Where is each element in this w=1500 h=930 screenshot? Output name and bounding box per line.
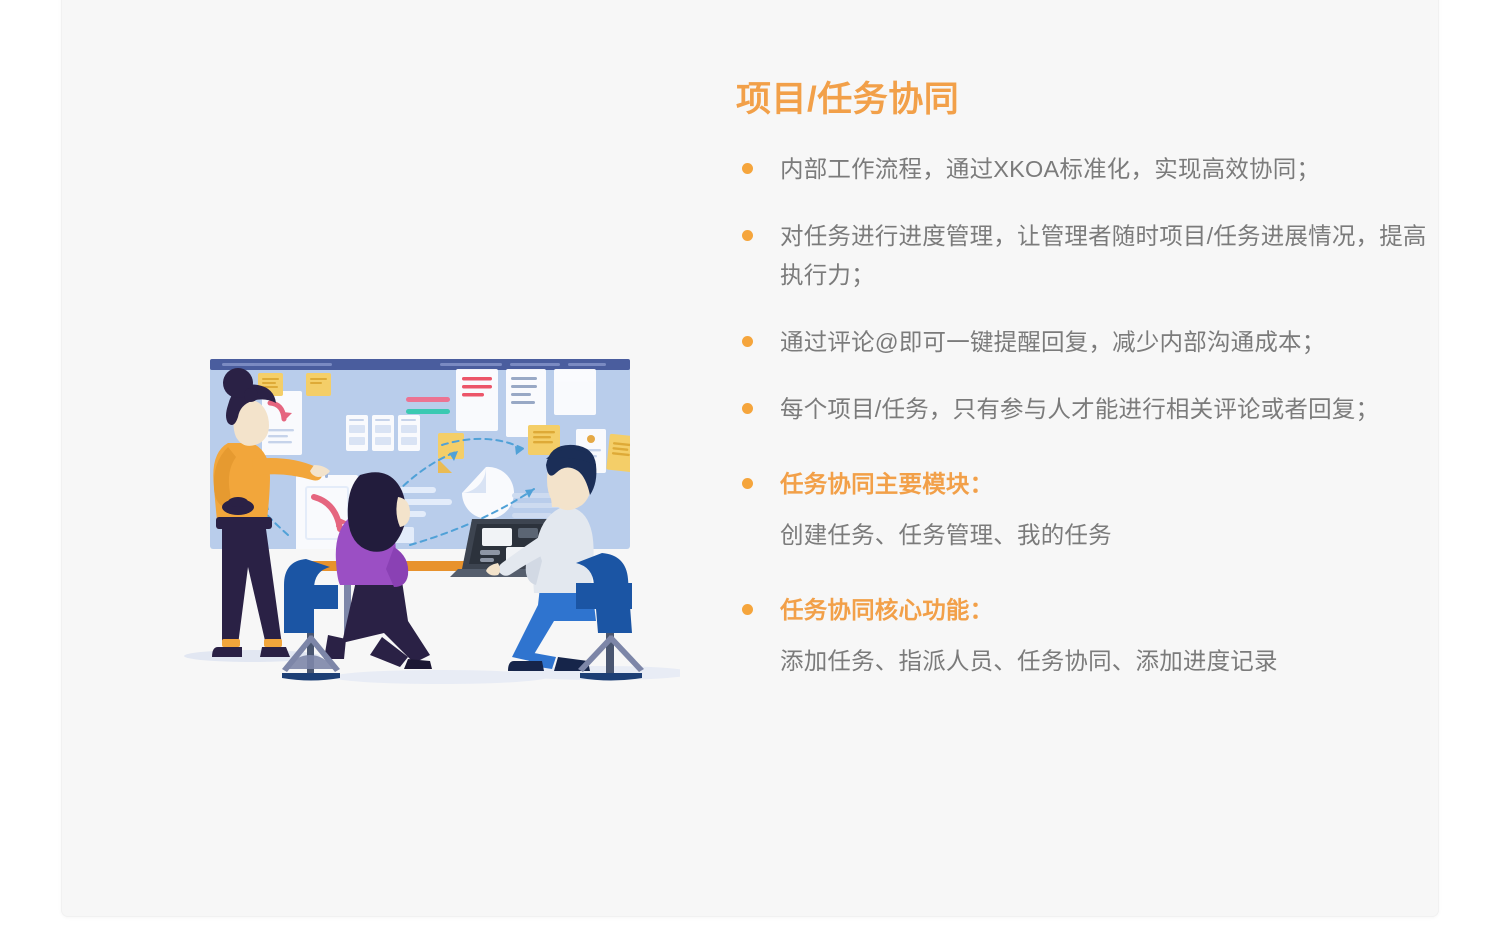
bullet-subtext: 添加任务、指派人员、任务协同、添加进度记录: [780, 642, 1446, 681]
list-item-modules: 任务协同主要模块： 创建任务、任务管理、我的任务: [736, 465, 1446, 555]
bullet-heading: 任务协同核心功能：: [780, 591, 1446, 630]
bullet-heading: 任务协同主要模块：: [780, 465, 1446, 504]
bullet-text: 每个项目/任务，只有参与人才能进行相关评论或者回复；: [780, 390, 1446, 429]
bullet-dot-icon: [742, 230, 753, 241]
bullet-text: 对任务进行进度管理，让管理者随时项目/任务进展情况，提高执行力；: [780, 217, 1446, 295]
illustration-svg: [110, 347, 680, 737]
feature-bullet-list: 内部工作流程，通过XKOA标准化，实现高效协同； 对任务进行进度管理，让管理者随…: [736, 150, 1446, 681]
feature-card: 项目/任务协同 内部工作流程，通过XKOA标准化，实现高效协同； 对任务进行进度…: [62, 0, 1438, 916]
bullet-dot-icon: [742, 403, 753, 414]
bullet-text: 内部工作流程，通过XKOA标准化，实现高效协同；: [780, 150, 1446, 189]
bullet-subtext: 创建任务、任务管理、我的任务: [780, 516, 1446, 555]
bullet-dot-icon: [742, 478, 753, 489]
bullet-dot-icon: [742, 163, 753, 174]
bullet-dot-icon: [742, 336, 753, 347]
feature-content-column: 项目/任务协同 内部工作流程，通过XKOA标准化，实现高效协同； 对任务进行进度…: [736, 76, 1446, 681]
team-collaboration-illustration: [110, 347, 680, 737]
bullet-dot-icon: [742, 604, 753, 615]
list-item: 内部工作流程，通过XKOA标准化，实现高效协同；: [736, 150, 1446, 189]
list-item: 每个项目/任务，只有参与人才能进行相关评论或者回复；: [736, 390, 1446, 429]
list-item: 对任务进行进度管理，让管理者随时项目/任务进展情况，提高执行力；: [736, 217, 1446, 295]
list-item: 通过评论@即可一键提醒回复，减少内部沟通成本；: [736, 323, 1446, 362]
list-item-core-functions: 任务协同核心功能： 添加任务、指派人员、任务协同、添加进度记录: [736, 591, 1446, 681]
page-title: 项目/任务协同: [736, 76, 1446, 124]
bullet-text: 通过评论@即可一键提醒回复，减少内部沟通成本；: [780, 323, 1446, 362]
